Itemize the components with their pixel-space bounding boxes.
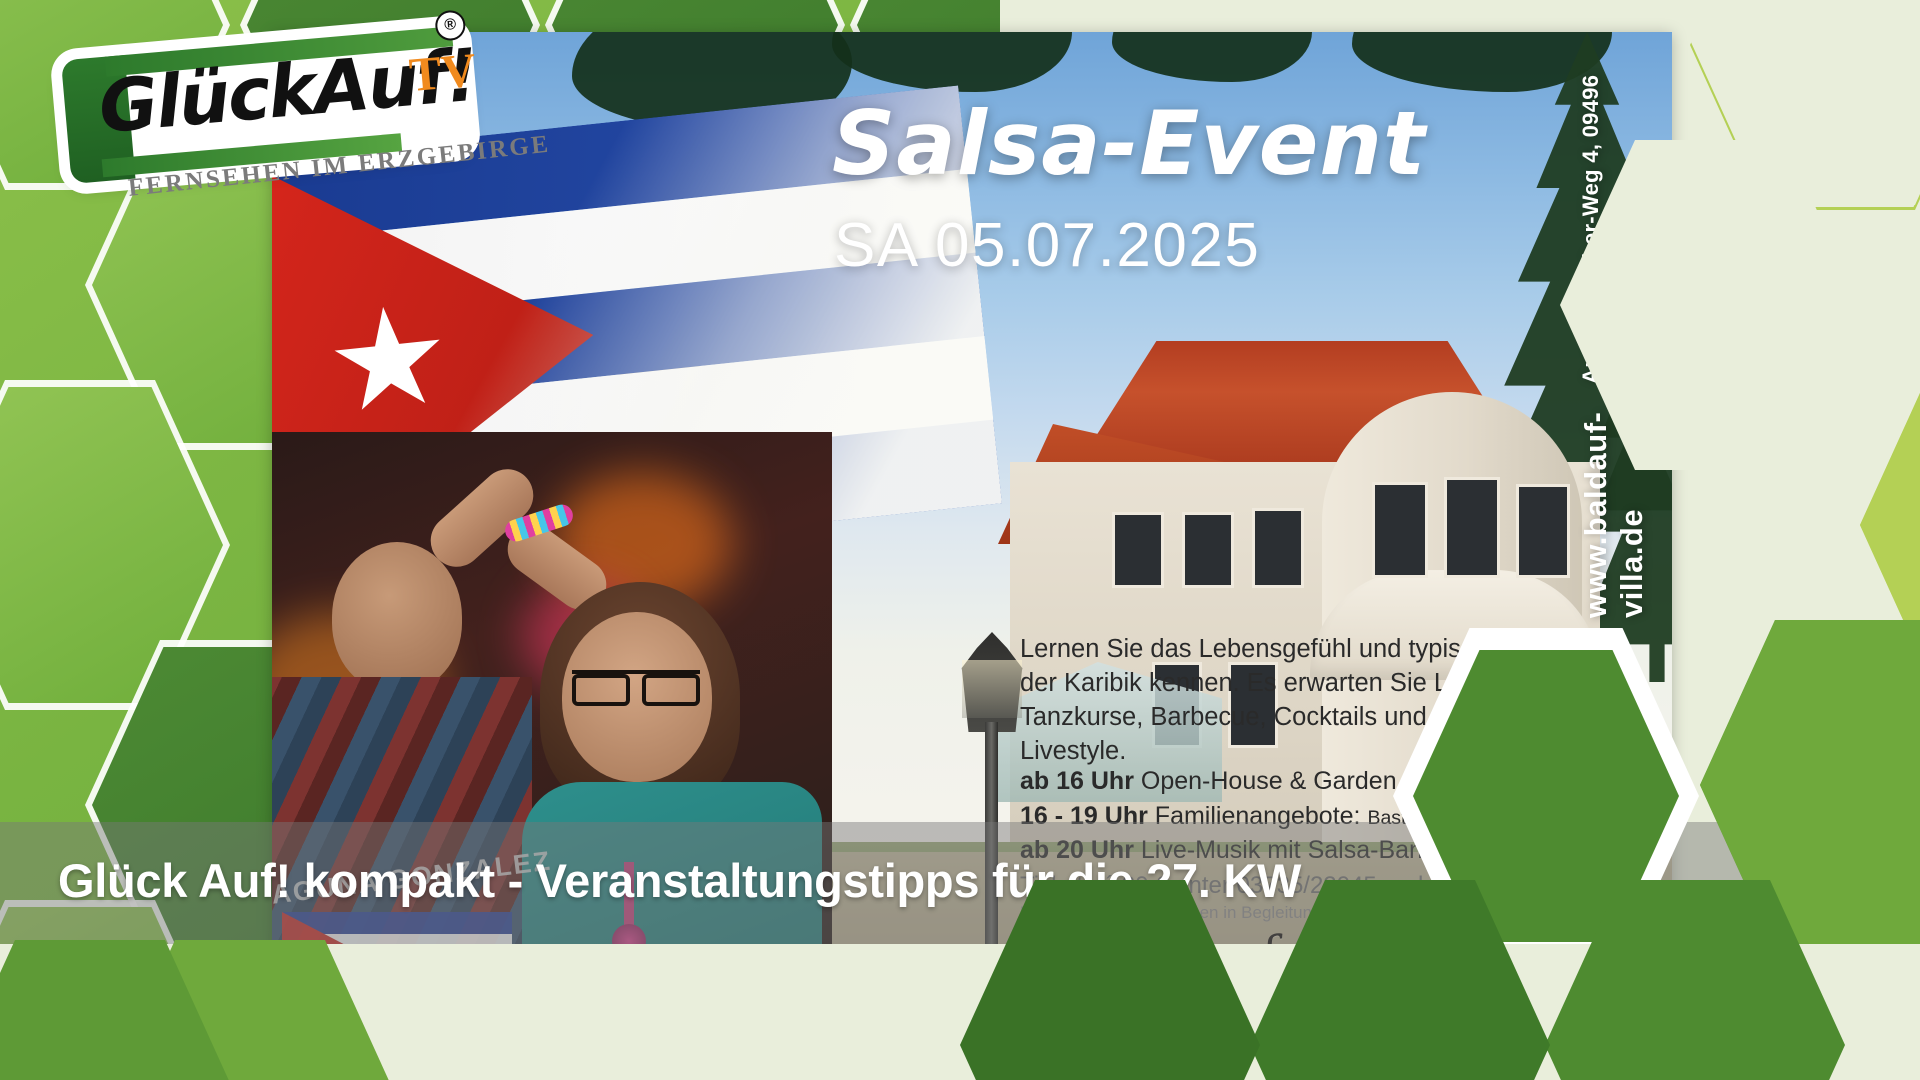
flyer-date: SA 05.07.2025 (834, 210, 1260, 281)
screen-root: LAGUNA GONZALEZ Salsa-Event SA 05.07.202… (0, 0, 1920, 1080)
villa-window (1112, 512, 1164, 588)
villa-window (1516, 484, 1570, 578)
villa-window (1444, 477, 1500, 578)
dancer-glasses (572, 670, 700, 698)
dancer-male-head (332, 542, 462, 692)
logo-tv-mark: TV (407, 43, 478, 104)
villa-window (1182, 512, 1234, 588)
program-title: Open-House & Garden (1141, 767, 1397, 795)
program-time: ab 16 Uhr (1020, 767, 1134, 795)
villa-window (1372, 482, 1428, 578)
flyer-title: Salsa-Event (832, 92, 1426, 195)
villa-window (1252, 508, 1304, 588)
glueckauf-tv-logo[interactable]: GlückAuf! TV ® FERNSEHEN IM ERZGEBIRGE (31, 0, 475, 221)
street-lamp-glass (962, 660, 1022, 718)
